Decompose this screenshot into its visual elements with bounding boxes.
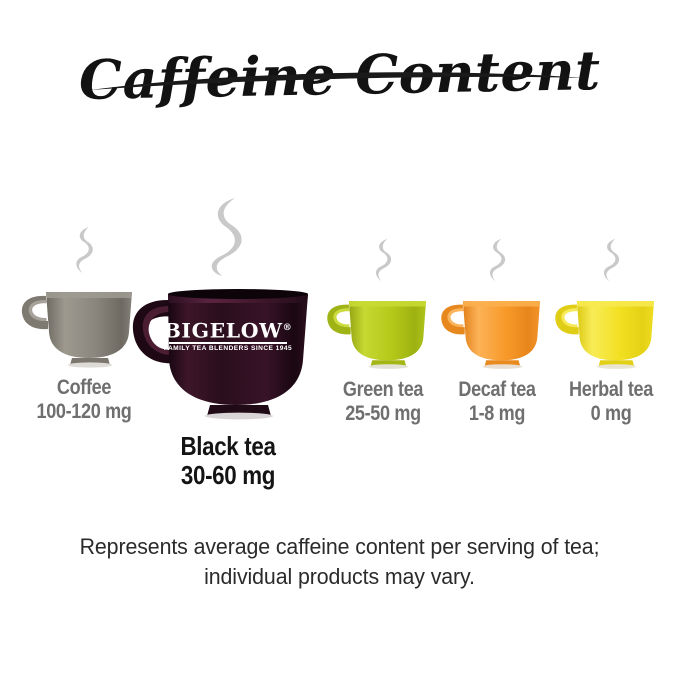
footer-line-1: Represents average caffeine content per … bbox=[10, 532, 669, 562]
cup-item-black-tea[interactable]: BIGELOW® FAMILY TEA BLENDERS SINCE 1945 … bbox=[128, 196, 328, 491]
cup-stage-decaf-tea bbox=[432, 236, 562, 372]
cup-label-wrap-black-tea: Black tea 30-60 mg bbox=[128, 432, 328, 491]
footer-line-2: individual products may vary. bbox=[10, 562, 669, 592]
steam-icon bbox=[64, 224, 104, 276]
cup-label-wrap-green-tea: Green tea 25-50 mg bbox=[318, 378, 448, 426]
cup-label-decaf-tea: Decaf tea bbox=[441, 378, 553, 402]
cup-stage-black-tea: BIGELOW® FAMILY TEA BLENDERS SINCE 1945 bbox=[128, 196, 328, 420]
steam-icon bbox=[363, 236, 403, 284]
cup-amount-green-tea: 25-50 mg bbox=[327, 402, 439, 426]
cup-label-black-tea: Black tea bbox=[142, 432, 314, 461]
steam-icon bbox=[195, 196, 261, 278]
steam-icon bbox=[477, 236, 517, 284]
herbal-tea-cup-icon bbox=[550, 284, 672, 372]
cup-row: Coffee 100-120 mg bbox=[0, 196, 679, 486]
cup-amount-black-tea: 30-60 mg bbox=[142, 461, 314, 491]
cup-label-wrap-decaf-tea: Decaf tea 1-8 mg bbox=[432, 378, 562, 426]
cup-item-green-tea[interactable]: Green tea 25-50 mg bbox=[318, 236, 448, 426]
cup-label-green-tea: Green tea bbox=[327, 378, 439, 402]
black-tea-mug-icon bbox=[130, 278, 326, 420]
cup-amount-herbal-tea: 0 mg bbox=[555, 402, 667, 426]
green-tea-cup-icon bbox=[322, 284, 444, 372]
swoosh-underline-icon bbox=[88, 62, 588, 96]
cup-stage-green-tea bbox=[318, 236, 448, 372]
cup-stage-herbal-tea bbox=[546, 236, 676, 372]
infographic-page: Caffeine Content bbox=[0, 0, 679, 679]
cup-item-herbal-tea[interactable]: Herbal tea 0 mg bbox=[546, 236, 676, 426]
decaf-tea-cup-icon bbox=[436, 284, 558, 372]
steam-icon bbox=[591, 236, 631, 284]
cup-amount-decaf-tea: 1-8 mg bbox=[441, 402, 553, 426]
cup-label-herbal-tea: Herbal tea bbox=[555, 378, 667, 402]
cup-label-wrap-herbal-tea: Herbal tea 0 mg bbox=[546, 378, 676, 426]
footer-note: Represents average caffeine content per … bbox=[0, 532, 679, 592]
cup-item-decaf-tea[interactable]: Decaf tea 1-8 mg bbox=[432, 236, 562, 426]
